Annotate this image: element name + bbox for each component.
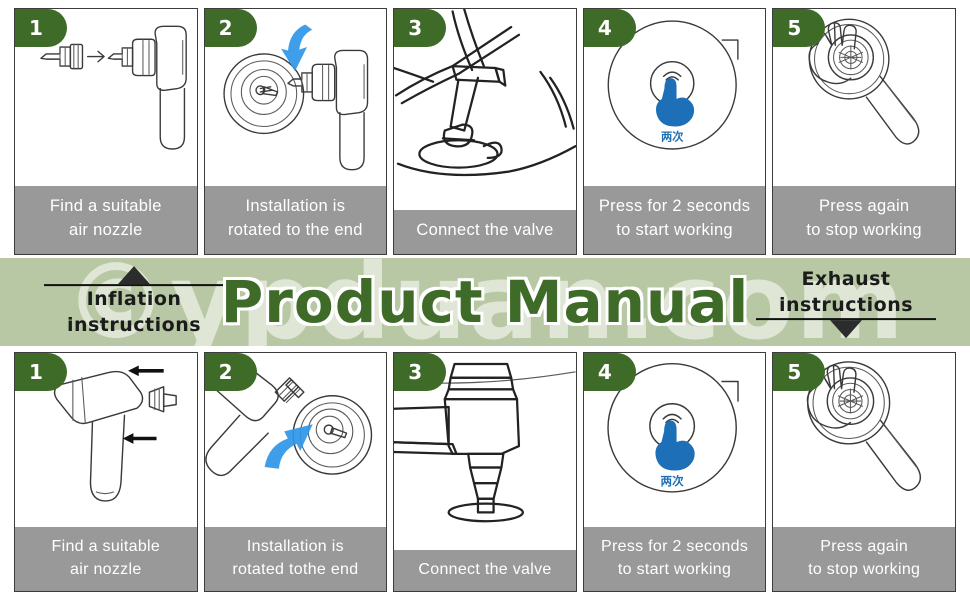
step-card: 3 — [393, 352, 577, 592]
step-illustration: 1 — [15, 353, 197, 527]
step-caption: Press again to stop working — [773, 186, 955, 254]
step-card: 2 — [204, 352, 388, 592]
step-illustration: 5 — [773, 353, 955, 527]
step-illustration: 4 两次 — [584, 353, 766, 527]
step-number-badge: 4 — [584, 9, 636, 47]
step-card: 1 — [14, 8, 198, 255]
step-card: 4 两次 Press for 2 seconds to start workin… — [583, 8, 767, 255]
step-illustration: 4 两次 — [584, 9, 766, 186]
step-caption: Press for 2 seconds to start working — [584, 186, 766, 254]
title-banner: ©ypduan.com Inflation instructions Produ… — [0, 258, 970, 346]
press-twice-annotation: 两次 — [661, 129, 684, 143]
step-number-badge: 3 — [394, 9, 446, 47]
step-number-badge: 5 — [773, 353, 825, 391]
exhaust-label-line1: Exhaust — [746, 266, 946, 292]
exhaust-steps-row: 1 Find a suitable air nozz — [14, 352, 956, 592]
step-illustration: 3 — [394, 9, 576, 210]
step-card: 2 — [204, 8, 388, 255]
exhaust-instructions-label: Exhaust instructions — [746, 266, 946, 338]
step-caption: Press again to stop working — [773, 527, 955, 591]
step-card: 3 — [393, 8, 577, 255]
step-card: 5 Pr — [772, 8, 956, 255]
step-illustration: 2 — [205, 353, 387, 527]
triangle-down-icon — [830, 320, 862, 338]
step-caption: Find a suitable air nozzle — [15, 186, 197, 254]
step-illustration: 3 — [394, 353, 576, 550]
step-caption: Find a suitable air nozzle — [15, 527, 197, 591]
step-number-badge: 5 — [773, 9, 825, 47]
step-caption: Connect the valve — [394, 210, 576, 254]
step-number-badge: 1 — [15, 353, 67, 391]
step-number-badge: 3 — [394, 353, 446, 391]
product-manual-infographic: 1 — [0, 0, 970, 600]
step-caption: Installation is rotated tothe end — [205, 527, 387, 591]
step-number-badge: 2 — [205, 9, 257, 47]
step-card: 1 Find a suitable air nozz — [14, 352, 198, 592]
step-caption: Press for 2 seconds to start working — [584, 527, 766, 591]
step-illustration: 1 — [15, 9, 197, 186]
step-caption: Connect the valve — [394, 550, 576, 591]
inflation-steps-row: 1 — [14, 8, 956, 255]
step-number-badge: 1 — [15, 9, 67, 47]
step-card: 5 Press again to stop working — [772, 352, 956, 592]
step-illustration: 2 — [205, 9, 387, 186]
step-number-badge: 4 — [584, 353, 636, 391]
step-caption: Installation is rotated to the end — [205, 186, 387, 254]
press-twice-annotation: 两次 — [660, 474, 684, 488]
step-number-badge: 2 — [205, 353, 257, 391]
step-card: 4 两次 Press for 2 seconds to start workin… — [583, 352, 767, 592]
exhaust-label-line2: instructions — [746, 292, 946, 318]
step-illustration: 5 — [773, 9, 955, 186]
